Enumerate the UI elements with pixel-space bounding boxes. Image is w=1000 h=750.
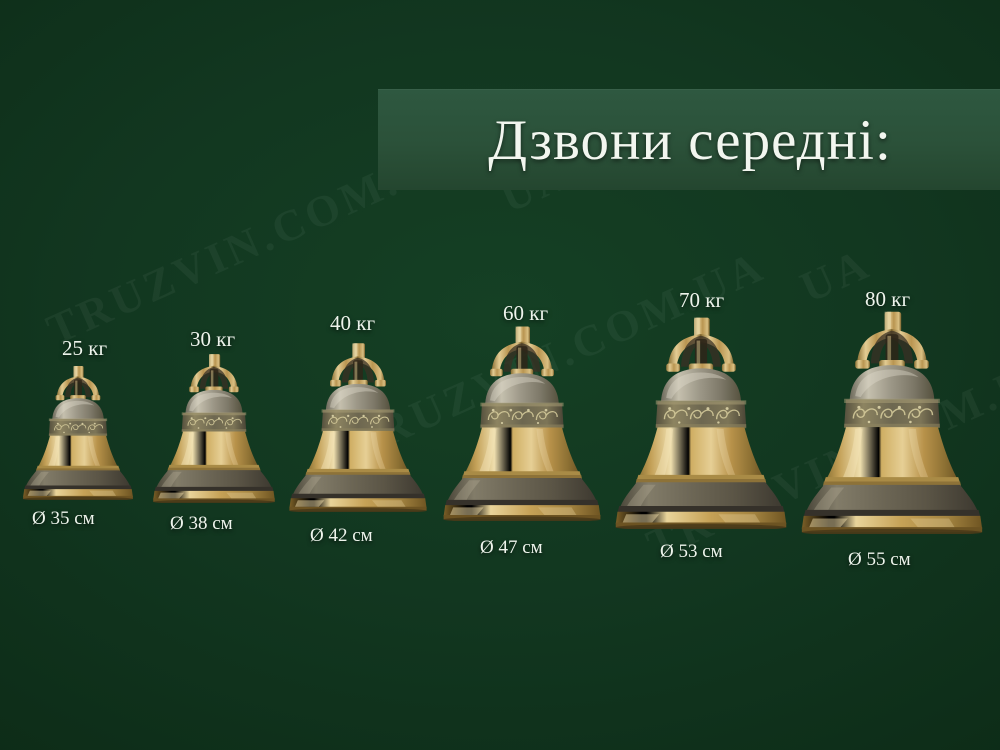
bell-icon bbox=[288, 342, 428, 512]
bell-diameter-label: Ø 38 см bbox=[170, 513, 233, 535]
bell-diameter-label: Ø 47 см bbox=[480, 537, 543, 559]
bell-item[interactable] bbox=[442, 0, 602, 750]
bell-icon bbox=[22, 365, 134, 500]
bell-diameter-label: Ø 53 см bbox=[660, 541, 723, 563]
poster-canvas: TRUZVIN.COM.UA TRUZVIN.COM.UA TRUZVIN.CO… bbox=[0, 0, 1000, 750]
bell-item[interactable] bbox=[22, 0, 134, 750]
bell-weight-label: 60 кг bbox=[503, 301, 548, 326]
bell-weight-label: 30 кг bbox=[190, 327, 235, 352]
bell-item[interactable] bbox=[152, 0, 276, 750]
bell-weight-label: 25 кг bbox=[62, 336, 107, 361]
bell-item[interactable] bbox=[800, 0, 984, 750]
bell-icon bbox=[152, 353, 276, 503]
bell-weight-label: 70 кг bbox=[679, 288, 724, 313]
bell-diameter-label: Ø 55 см bbox=[848, 549, 911, 571]
bell-diameter-label: Ø 42 см bbox=[310, 525, 373, 547]
bell-weight-label: 80 кг bbox=[865, 287, 910, 312]
bell-icon bbox=[800, 310, 984, 534]
bell-icon bbox=[614, 316, 788, 529]
bell-weight-label: 40 кг bbox=[330, 311, 375, 336]
bell-diameter-label: Ø 35 см bbox=[32, 508, 95, 530]
bell-item[interactable] bbox=[288, 0, 428, 750]
bell-icon bbox=[442, 325, 602, 521]
bell-item[interactable] bbox=[614, 0, 788, 750]
